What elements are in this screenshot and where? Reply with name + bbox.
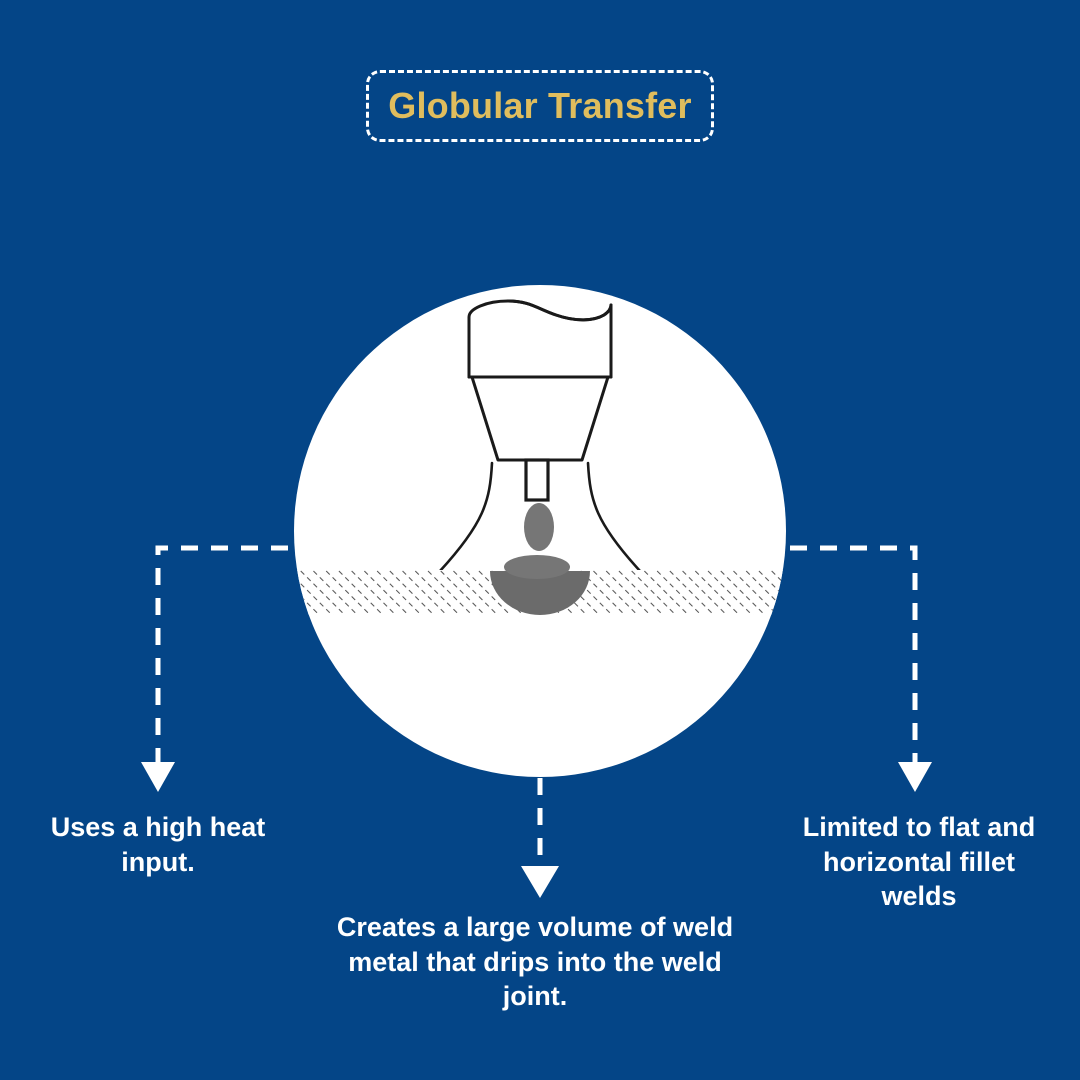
caption-center: Creates a large volume of weld metal tha… — [330, 910, 740, 1014]
torch-body — [472, 377, 608, 460]
welding-illustration — [294, 285, 786, 777]
torch-collar — [469, 301, 611, 377]
infographic-canvas: Globular Transfer — [0, 0, 1080, 1080]
illustration-circle — [294, 285, 786, 777]
caption-right: Limited to flat and horizontal fillet we… — [800, 810, 1038, 914]
caption-left: Uses a high heat input. — [42, 810, 274, 879]
molten-droplet-lower — [504, 555, 570, 579]
page-title: Globular Transfer — [388, 88, 691, 124]
electrode-wire — [526, 460, 548, 500]
molten-droplet-upper — [524, 503, 554, 551]
title-badge: Globular Transfer — [366, 70, 714, 142]
